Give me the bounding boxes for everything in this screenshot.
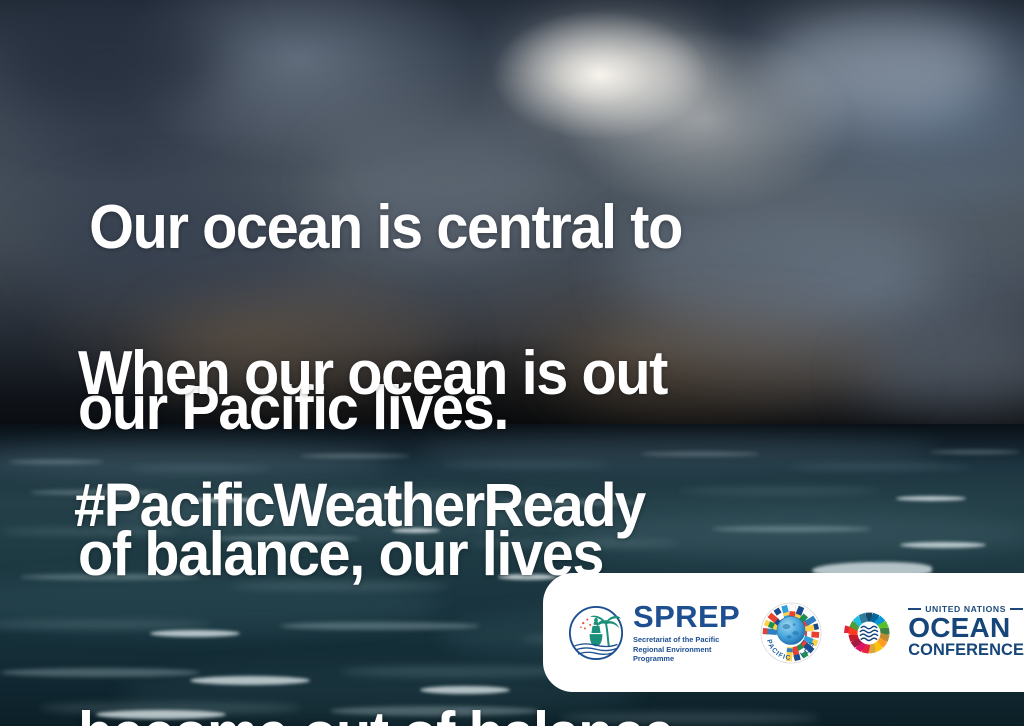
sprep-wordmark-group: SPREP Secretariat of the Pacific Regiona… <box>633 601 741 663</box>
conference-wordmark: CONFERENCE <box>908 642 1024 660</box>
logo-pacific-sids: PACIFIC S I D S <box>759 601 823 665</box>
logo-un-ocean-conference: UNITED NATIONS OCEAN CONFERENCE <box>839 603 1024 663</box>
logo-sprep: SPREP Secretariat of the Pacific Regiona… <box>567 601 741 663</box>
headline-line-5: become out of balance. <box>78 705 688 726</box>
logo-card: SPREP Secretariat of the Pacific Regiona… <box>543 573 1024 692</box>
sprep-tagline: Secretariat of the Pacific Regional Envi… <box>633 635 741 663</box>
headline-line-3: When our ocean is out <box>78 344 688 404</box>
ocean-wordmark: OCEAN <box>908 614 1024 642</box>
eyebrow-rule-left-icon <box>908 608 921 610</box>
un-ocean-conference-wordmark-group: UNITED NATIONS OCEAN CONFERENCE <box>908 605 1024 660</box>
pacific-sids-globe-flags-icon: PACIFIC S I D S <box>759 601 823 665</box>
sprep-island-emblem-icon <box>567 604 625 662</box>
sprep-wordmark: SPREP <box>633 599 740 634</box>
campaign-hashtag: #PacificWeatherReady <box>74 476 644 535</box>
sdg-wheel-waves-icon <box>839 603 899 663</box>
eyebrow-rule-right-icon <box>1010 608 1023 610</box>
poster-canvas: Our ocean is central to our Pacific live… <box>0 0 1024 726</box>
